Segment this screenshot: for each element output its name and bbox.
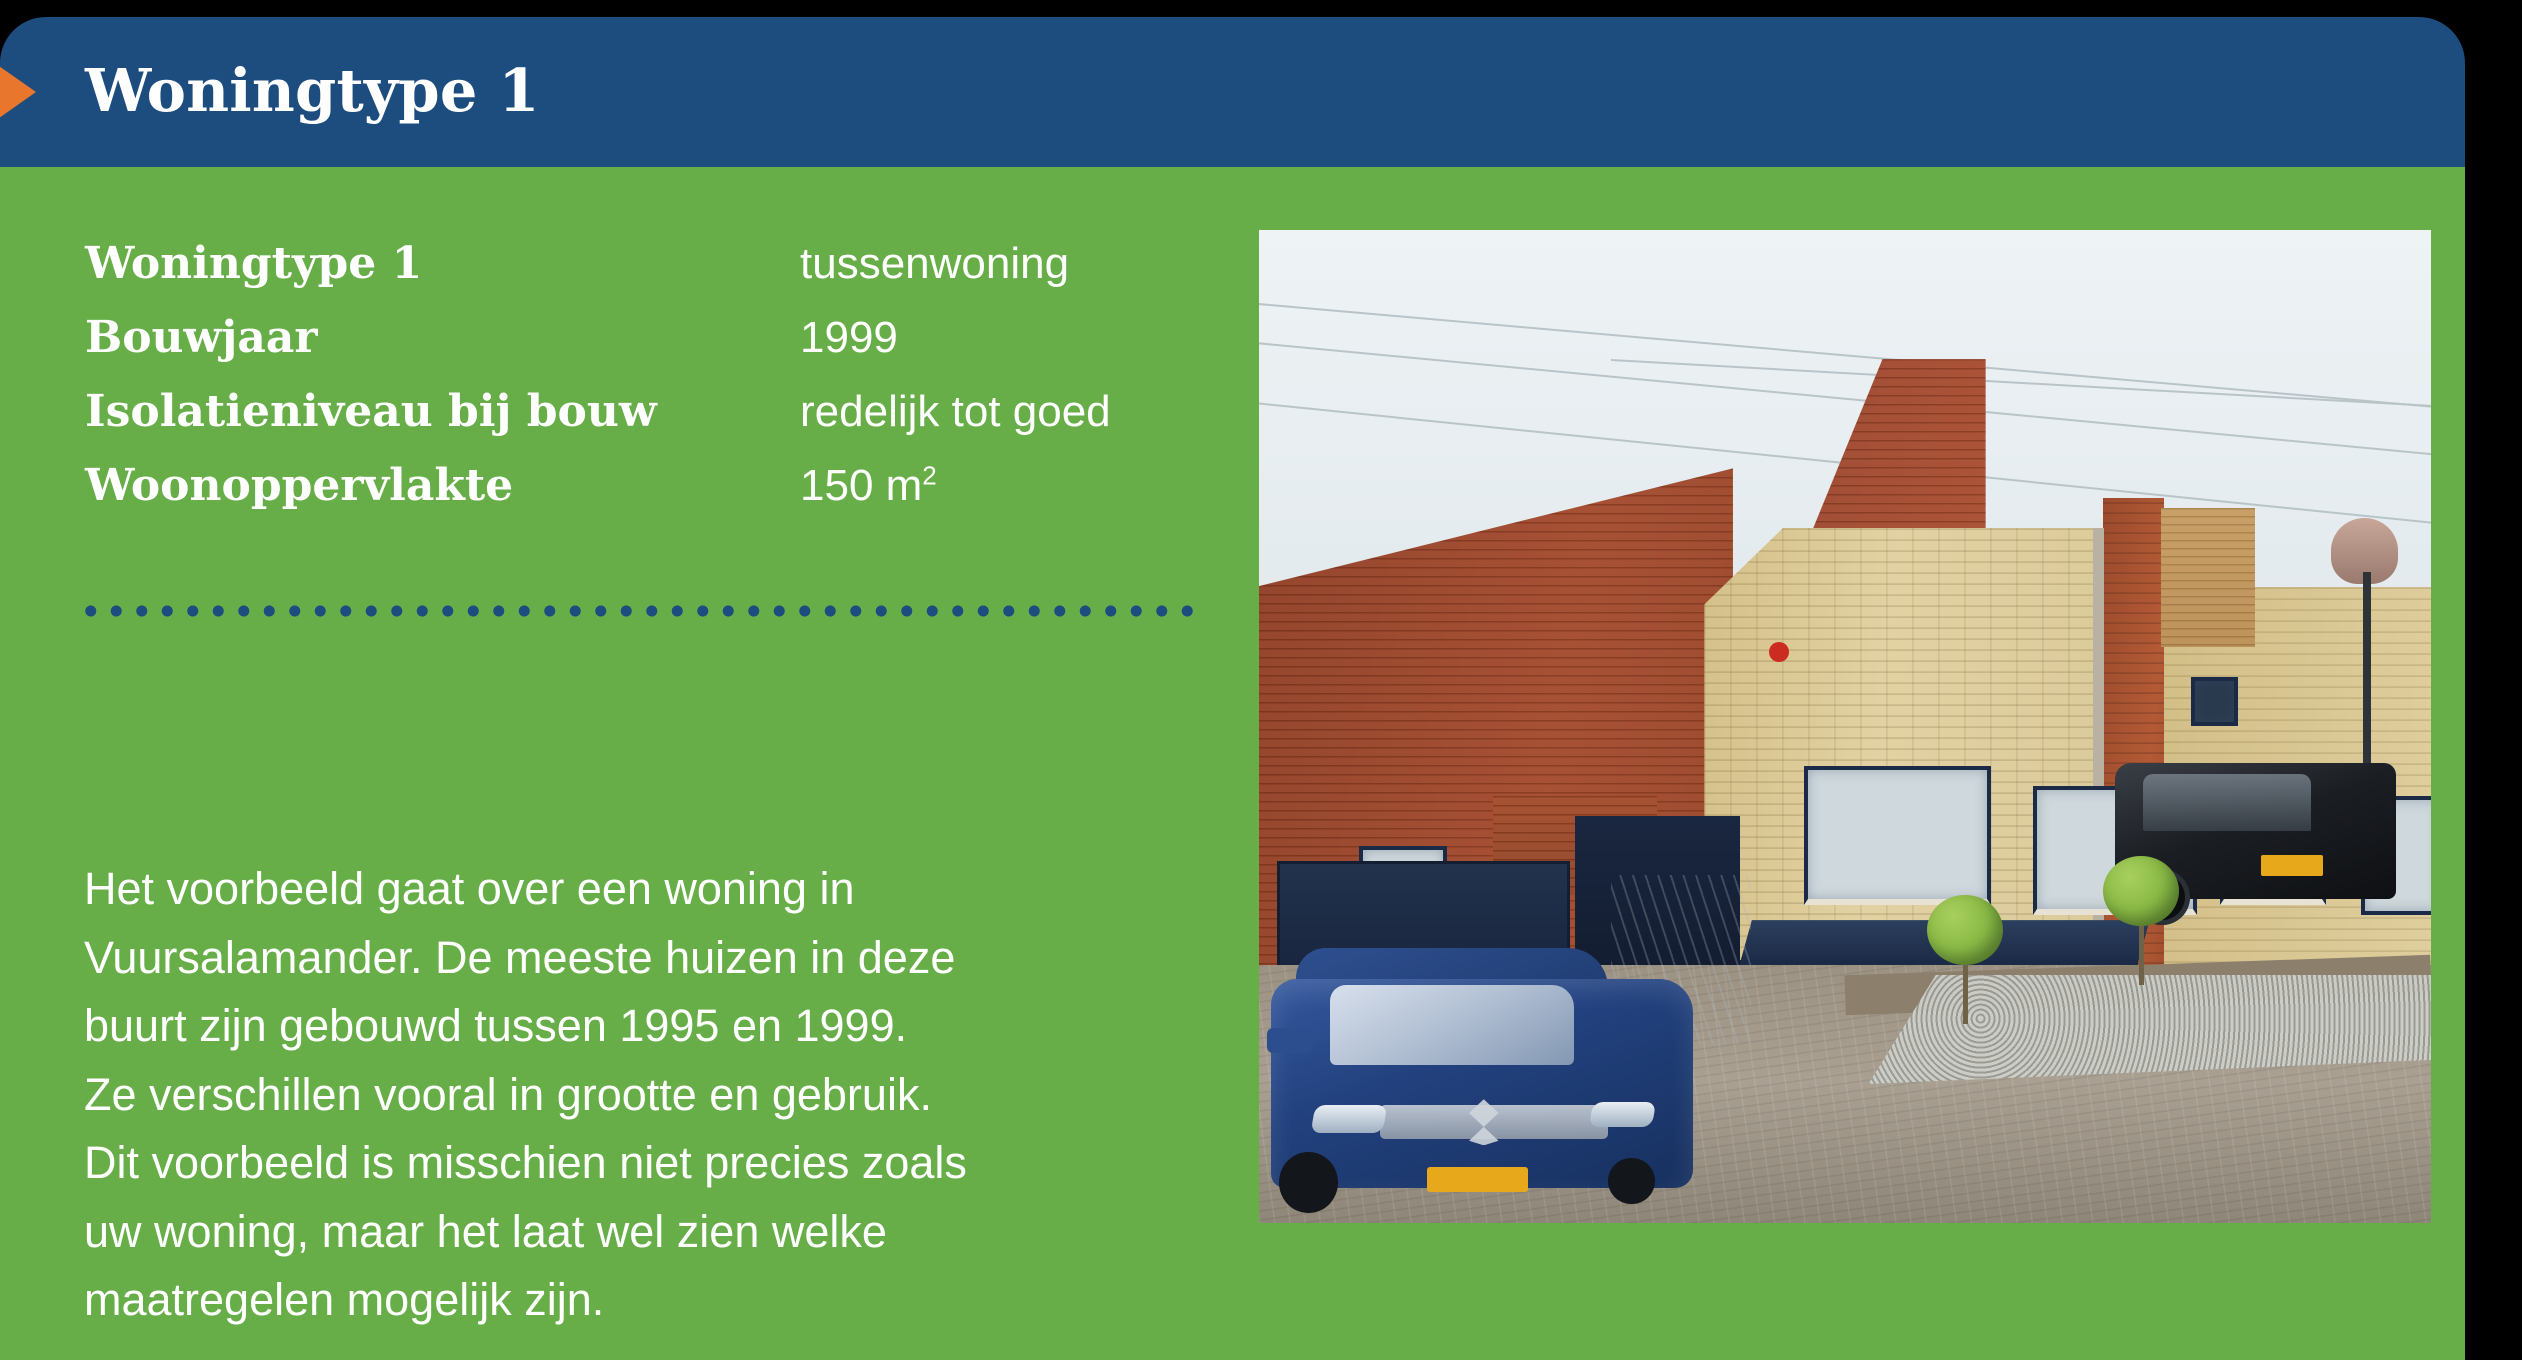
spec-label-bouwjaar: Bouwjaar [85,316,800,360]
spec-label-woonoppervlakte: Woonoppervlakte [85,464,800,508]
table-row: Woonoppervlakte 150 m2 [85,464,1225,538]
car-wheel-left [1279,1152,1338,1214]
body-line: Ze verschillen vooral in grootte en gebr… [84,1061,1234,1130]
car-headlight-right [1589,1102,1657,1127]
dotted-divider [78,604,1200,618]
topiary-ball [1927,895,2003,965]
page-title: Woningtype 1 [85,56,540,125]
spec-value-bouwjaar: 1999 [800,316,898,360]
photo-scene [1259,230,2431,1223]
body-line: maatregelen mogelijk zijn. [84,1266,1234,1335]
house-photo [1259,230,2431,1223]
body-line: Vuursalamander. De meeste huizen in deze [84,924,1234,993]
topiary-ball [2103,856,2179,926]
window-large [1804,766,1992,905]
body-paragraph: Het voorbeeld gaat over een woning in Vu… [84,855,1234,1335]
alarm-box-icon [1769,642,1789,662]
license-plate [2261,855,2323,876]
car-headlight-left [1310,1105,1387,1133]
specs-table: Woningtype 1 tussenwoning Bouwjaar 1999 … [85,242,1225,538]
wood-panel-upper-right [2161,508,2255,647]
spec-value-woningtype: tussenwoning [800,242,1069,286]
table-row: Bouwjaar 1999 [85,316,1225,390]
triangle-right-icon [0,47,36,137]
table-row: Woningtype 1 tussenwoning [85,242,1225,316]
body-line: Dit voorbeeld is misschien niet precies … [84,1129,1234,1198]
car-wheel-right [1608,1158,1654,1204]
topiary-tree [1927,895,2003,1024]
body-line: buurt zijn gebouwd tussen 1995 en 1999. [84,992,1234,1061]
spec-value-woonoppervlakte: 150 m2 [800,464,937,508]
window-slit [2191,677,2238,727]
spec-label-isolatieniveau: Isolatieniveau bij bouw [85,390,800,434]
topiary-tree [2103,856,2179,985]
suv-glass [2143,774,2312,831]
spec-value-isolatieniveau: redelijk tot goed [800,390,1111,434]
table-row: Isolatieniveau bij bouw redelijk tot goe… [85,390,1225,464]
body-line: Het voorbeeld gaat over een woning in [84,855,1234,924]
header-bar: Woningtype 1 [0,17,2465,167]
body-line: uw woning, maar het laat wel zien welke [84,1198,1234,1267]
slide-root: Woningtype 1 Woningtype 1 tussenwoning B… [0,0,2522,1360]
blue-car [1271,905,1693,1213]
car-mirror [1267,1028,1313,1053]
license-plate [1427,1167,1528,1192]
spec-value-area-superscript: 2 [922,460,936,490]
car-windshield [1330,985,1575,1065]
spec-value-area-number: 150 m [800,461,922,510]
spec-label-woningtype: Woningtype 1 [85,242,800,286]
